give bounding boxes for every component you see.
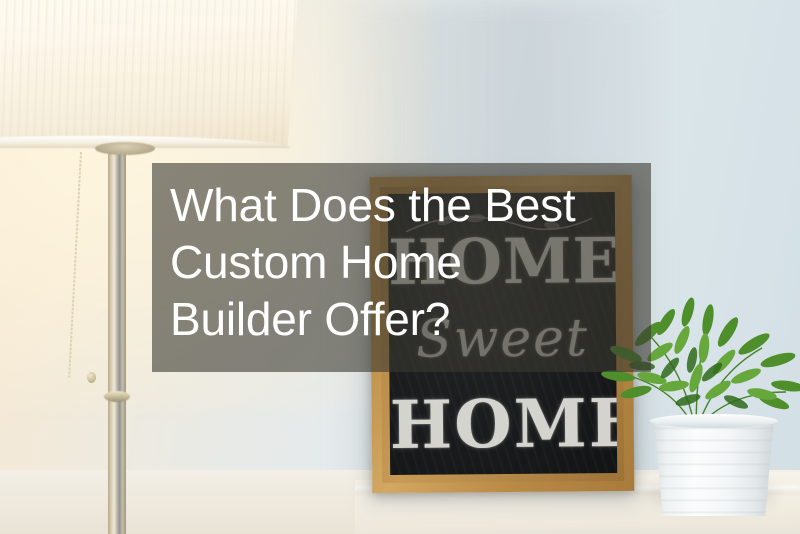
lamp-pull-chain-ball xyxy=(87,372,96,383)
lamp-shade-pleats xyxy=(0,0,300,146)
header-image: HOME Sweet HOME xyxy=(0,0,800,534)
lamp-pole-ring xyxy=(104,391,130,402)
plant-pot-ribbing xyxy=(650,418,778,516)
page-title: What Does the Best Custom Home Builder O… xyxy=(170,177,640,348)
plant-pot-rim xyxy=(650,414,778,428)
chalk-text-home-bottom: HOME xyxy=(390,390,618,458)
lamp-pole xyxy=(108,150,126,534)
table-surface-left xyxy=(0,498,370,534)
lamp-finial xyxy=(95,142,155,155)
title-overlay-panel: What Does the Best Custom Home Builder O… xyxy=(152,163,651,372)
